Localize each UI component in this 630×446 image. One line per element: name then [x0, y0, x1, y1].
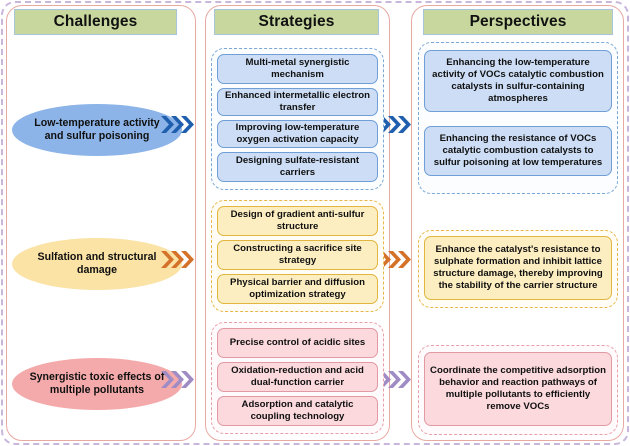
perspective-item-3-1: Coordinate the competitive adsorption be…	[424, 352, 612, 426]
chevron-right-icon	[161, 115, 195, 134]
chevron-right-icon	[161, 370, 195, 389]
challenge-oval-2: Sulfation and structural damage	[12, 238, 182, 290]
column-header-strategies: Strategies	[214, 9, 379, 35]
chevron-arrow-group-challenge-2	[161, 250, 195, 269]
strategy-item-3-1: Precise control of acidic sites	[217, 328, 378, 358]
strategy-item-1-1: Multi-metal synergistic mechanism	[217, 54, 378, 84]
challenge-oval-1: Low-temperature activity and sulfur pois…	[12, 104, 182, 156]
strategy-item-1-2: Enhanced intermetallic electron transfer	[217, 88, 378, 116]
perspective-item-2-1: Enhance the catalyst's resistance to sul…	[424, 236, 612, 300]
chevron-right-icon	[161, 250, 195, 269]
column-header-perspectives-label: Perspectives	[470, 13, 567, 31]
strategy-item-2-1: Design of gradient anti-sulfur structure	[217, 206, 378, 236]
perspective-item-1-2: Enhancing the resistance of VOCs catalyt…	[424, 126, 612, 176]
perspective-item-1-1: Enhancing the low-temperature activity o…	[424, 50, 612, 112]
column-header-strategies-label: Strategies	[259, 13, 335, 31]
strategy-item-2-3: Physical barrier and diffusion optimizat…	[217, 274, 378, 304]
chevron-arrow-group-challenge-1	[161, 115, 195, 134]
column-header-challenges-label: Challenges	[54, 13, 138, 31]
diagram-root: Challenges Strategies Perspectives Low-t…	[0, 0, 630, 446]
column-header-challenges: Challenges	[14, 9, 177, 35]
strategy-item-3-2: Oxidation-reduction and acid dual-functi…	[217, 362, 378, 392]
strategy-item-2-2: Constructing a sacrifice site strategy	[217, 240, 378, 270]
column-header-perspectives: Perspectives	[423, 9, 613, 35]
challenge-oval-3: Synergistic toxic effects of multiple po…	[12, 358, 182, 410]
strategy-item-1-4: Designing sulfate-resistant carriers	[217, 152, 378, 182]
strategy-item-1-3: Improving low-temperature oxygen activat…	[217, 120, 378, 148]
chevron-arrow-group-challenge-3	[161, 370, 195, 389]
strategy-item-3-3: Adsorption and catalytic coupling techno…	[217, 396, 378, 426]
